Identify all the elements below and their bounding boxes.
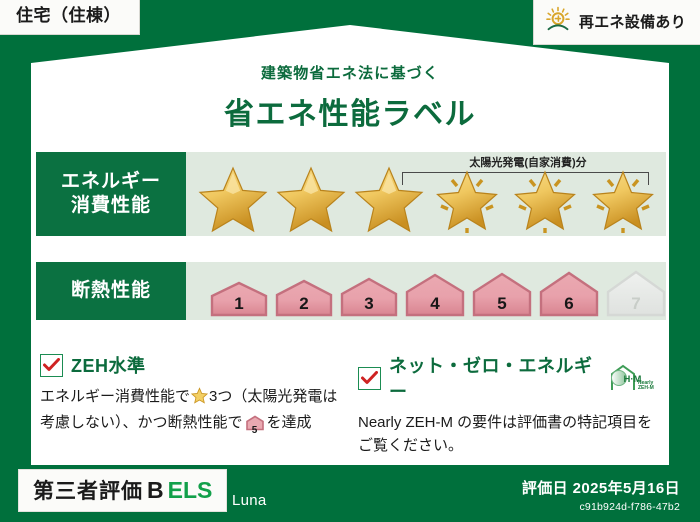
- energy-performance-row: エネルギー 消費性能 太陽光発電(自家消費)分: [36, 152, 666, 236]
- third-party-eval-label: 第三者評価: [33, 475, 143, 505]
- insulation-level-2-number: 2: [273, 294, 335, 314]
- star-icon: [194, 154, 272, 234]
- criterion-zeh-title: ZEH水準: [71, 352, 146, 378]
- insulation-level-6-number: 6: [537, 294, 601, 314]
- building-name: Luna: [232, 492, 267, 509]
- insulation-level-5: 5: [470, 271, 534, 317]
- insulation-level-4: 4: [403, 272, 467, 317]
- bels-logo-b: B: [147, 477, 164, 504]
- star-icon-solar: [584, 154, 662, 234]
- renewable-equipment-badge: 再エネ設備あり: [533, 0, 700, 45]
- insulation-level-7: 7: [604, 269, 668, 317]
- sun-icon: [544, 6, 572, 37]
- footer-right-info: 評価日 2025年5月16日 c91b924d-f786-47b2: [522, 477, 680, 513]
- svg-text:ZEH-M: ZEH-M: [638, 385, 654, 391]
- star-rating: [194, 154, 662, 234]
- criterion-zeh-header: ZEH水準: [40, 352, 340, 378]
- star-icon-inline: [191, 387, 208, 412]
- energy-label-line2: 消費性能: [71, 194, 151, 218]
- criterion-zeh-body: エネルギー消費性能で3つ（太陽光発電は考慮しない）、かつ断熱性能で5を達成: [40, 386, 340, 438]
- insulation-level-3-number: 3: [338, 294, 400, 314]
- evaluation-id: c91b924d-f786-47b2: [522, 501, 680, 513]
- insulation-level-6: 6: [537, 270, 601, 317]
- insulation-performance-label-box: 断熱性能: [36, 262, 186, 320]
- insulation-level-7-number: 7: [604, 294, 668, 314]
- criterion-net-zero-energy: ネット・ゼロ・エネルギー H·M Nearly ZEH-M: [358, 352, 658, 457]
- house-badge-icon: 5: [245, 415, 265, 439]
- criterion-nze-header: ネット・ゼロ・エネルギー H·M Nearly ZEH-M: [358, 352, 658, 404]
- criterion-zeh-text-part1: エネルギー消費性能で: [40, 388, 190, 405]
- title-main: 省エネ性能ラベル: [0, 89, 700, 133]
- insulation-level-scale: 1 2 3 4: [208, 269, 668, 317]
- star-icon: [350, 154, 428, 234]
- insulation-label: 断熱性能: [71, 279, 151, 303]
- criteria-section: ZEH水準 エネルギー消費性能で3つ（太陽光発電は考慮しない）、かつ断熱性能で5…: [40, 352, 660, 457]
- insulation-level-1-number: 1: [208, 294, 270, 314]
- star-icon: [272, 154, 350, 234]
- title-subtitle: 建築物省エネ法に基づく: [0, 62, 700, 83]
- star-icon-solar: [428, 154, 506, 234]
- insulation-level-1: 1: [208, 280, 270, 317]
- bels-badge: 第三者評価 BELS: [18, 469, 227, 512]
- insulation-level-5-number: 5: [470, 294, 534, 314]
- insulation-level-2: 2: [273, 278, 335, 317]
- housing-type-label: 住宅（住棟）: [16, 6, 121, 25]
- evaluation-date: 評価日 2025年5月16日: [522, 477, 680, 498]
- insulation-performance-row: 断熱性能: [36, 262, 666, 320]
- criterion-nze-title: ネット・ゼロ・エネルギー: [389, 352, 594, 404]
- zeh-m-logo: H·M Nearly ZEH-M: [608, 363, 658, 393]
- star-icon-solar: [506, 154, 584, 234]
- insulation-performance-levels-panel: 1 2 3 4: [186, 262, 666, 320]
- energy-performance-stars-panel: 太陽光発電(自家消費)分: [186, 152, 666, 236]
- energy-performance-label: 住宅（住棟） 再エネ設備あり 建築物省エネ法に基づく: [0, 0, 700, 522]
- energy-label-line1: エネルギー: [61, 170, 161, 194]
- renewable-equipment-label: 再エネ設備あり: [579, 11, 686, 32]
- insulation-level-3: 3: [338, 276, 400, 317]
- check-icon: [358, 367, 381, 390]
- housing-type-badge: 住宅（住棟）: [0, 0, 140, 35]
- house-badge-number: 5: [245, 423, 265, 438]
- criterion-nze-body: Nearly ZEH-M の要件は評価書の特記項目をご覧ください。: [358, 412, 658, 457]
- label-footer: 第三者評価 BELS Luna 評価日 2025年5月16日 c91b924d-…: [0, 465, 700, 522]
- insulation-level-4-number: 4: [403, 294, 467, 314]
- label-title-block: 建築物省エネ法に基づく 省エネ性能ラベル: [0, 62, 700, 133]
- bels-logo-els: ELS: [168, 477, 213, 504]
- criterion-zeh-text-part3: を達成: [267, 414, 312, 431]
- criterion-zeh-standard: ZEH水準 エネルギー消費性能で3つ（太陽光発電は考慮しない）、かつ断熱性能で5…: [40, 352, 340, 457]
- energy-performance-label-box: エネルギー 消費性能: [36, 152, 186, 236]
- check-icon: [40, 354, 63, 377]
